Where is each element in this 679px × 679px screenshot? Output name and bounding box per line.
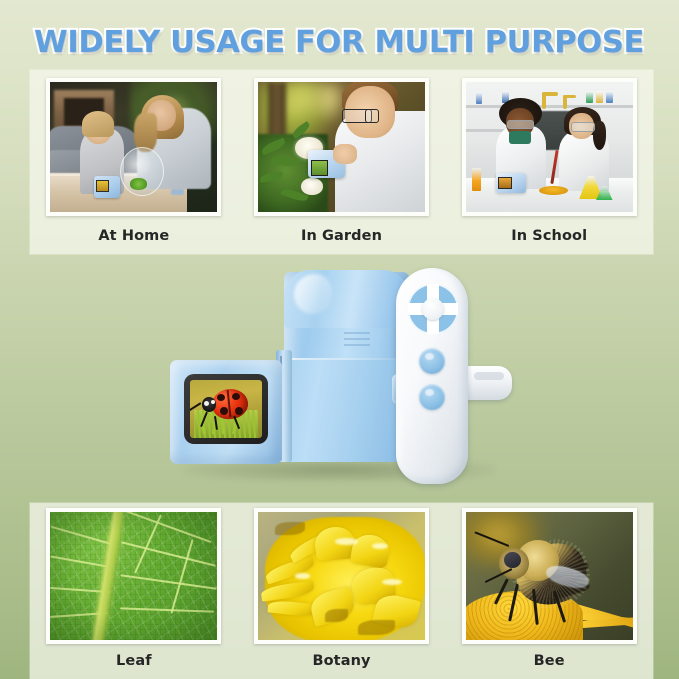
caption-leaf: Leaf — [30, 653, 238, 669]
caption-at-home: At Home — [30, 228, 238, 244]
caption-in-school: In School — [445, 228, 653, 244]
school-child-2-pigtail — [593, 121, 606, 150]
microscope-cap-highlight — [294, 274, 332, 314]
lcd-ladybug-spot — [235, 407, 243, 415]
garden-microscope-screen — [311, 160, 328, 176]
photo-botany — [254, 508, 429, 644]
lcd-ladybug-head-mark — [204, 401, 209, 406]
button-gloss — [425, 389, 434, 396]
botany-shadow — [358, 620, 395, 635]
garden-white-flower-2 — [301, 178, 323, 195]
school-microscope-screen — [498, 177, 512, 189]
school-test-tube — [606, 91, 613, 103]
home-green-plant-in-bowl — [130, 178, 147, 190]
page-title: WIDELY USAGE FOR MULTI PURPOSE — [35, 25, 645, 60]
microscope-strap-slot — [474, 372, 504, 380]
school-faucet-arm — [542, 92, 557, 95]
home-accessory — [171, 189, 184, 196]
lcd-ladybug-spot — [232, 393, 240, 400]
home-microscope-screen — [96, 180, 109, 192]
usage-scenes-panel: At Home — [30, 70, 653, 254]
bee-background — [466, 512, 633, 640]
school-scene-background — [466, 82, 633, 212]
sample-images-grid: Leaf — [30, 503, 653, 679]
dpad-ring — [408, 284, 458, 334]
sample-image-bee[interactable]: Bee — [445, 503, 653, 679]
microscope-front-panel — [284, 360, 410, 462]
usage-scenes-grid: At Home — [30, 70, 653, 254]
caption-botany: Botany — [238, 653, 446, 669]
usage-scene-in-school[interactable]: In School — [445, 70, 653, 254]
lcd-ladybug-head-mark — [211, 400, 215, 404]
botany-highlight — [295, 573, 310, 578]
microscope-vent — [344, 328, 370, 346]
usage-scene-at-home[interactable]: At Home — [30, 70, 238, 254]
photo-bee — [462, 508, 637, 644]
botany-shadow — [275, 522, 305, 535]
school-child-2-goggles — [571, 122, 595, 132]
mode-button[interactable] — [419, 384, 445, 410]
leaf-background — [50, 512, 217, 640]
botany-highlight — [382, 579, 402, 585]
garden-boy-hand — [333, 144, 356, 164]
home-scene-background — [50, 82, 217, 212]
sample-images-panel: Leaf — [30, 503, 653, 679]
photo-in-school — [462, 78, 637, 216]
botany-background — [258, 512, 425, 640]
school-child-1-goggles — [507, 120, 534, 130]
school-test-tube — [476, 92, 483, 104]
school-test-tube — [586, 91, 593, 103]
school-petri-dish — [539, 186, 567, 195]
garden-scene-background — [258, 82, 425, 212]
caption-in-garden: In Garden — [238, 228, 446, 244]
header-banner: WIDELY USAGE FOR MULTI PURPOSE — [0, 20, 679, 64]
school-test-tube — [596, 91, 603, 103]
microscope-lcd-screen — [190, 380, 262, 438]
usage-scene-in-garden[interactable]: In Garden — [238, 70, 446, 254]
button-gloss — [425, 353, 434, 360]
photo-in-garden — [254, 78, 429, 216]
garden-boy-glasses-right — [365, 109, 379, 123]
bee-eye — [504, 552, 521, 569]
photo-leaf — [46, 508, 221, 644]
school-child-1-shirt — [509, 131, 531, 144]
school-shelf — [466, 105, 633, 108]
lcd-ladybug-spot — [220, 407, 228, 415]
sample-image-botany[interactable]: Botany — [238, 503, 446, 679]
leaf-vignette — [50, 512, 217, 640]
home-child-hair — [82, 111, 114, 137]
product-image-microscope — [168, 262, 513, 494]
school-faucet-arm — [563, 95, 576, 98]
capture-button[interactable] — [419, 348, 445, 374]
school-graduated-cylinder — [472, 168, 480, 191]
caption-bee: Bee — [445, 653, 653, 669]
photo-at-home — [46, 78, 221, 216]
sample-image-leaf[interactable]: Leaf — [30, 503, 238, 679]
